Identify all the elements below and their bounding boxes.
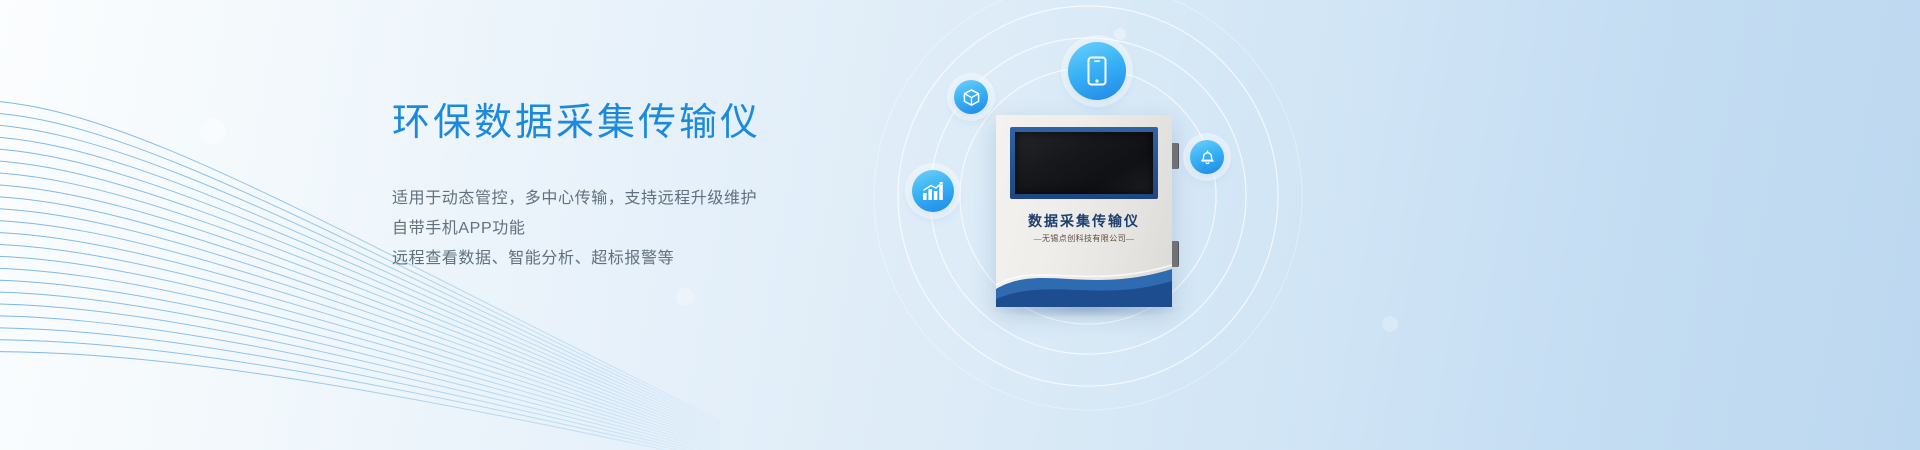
device-company-label: —无锡点创科技有限公司—	[996, 233, 1172, 244]
description-line: 适用于动态管控，多中心传输，支持远程升级维护	[392, 184, 912, 214]
product-banner: 环保数据采集传输仪 适用于动态管控，多中心传输，支持远程升级维护 自带手机APP…	[0, 0, 1920, 450]
package-box-icon[interactable]	[954, 80, 988, 114]
bokeh-dot	[1382, 316, 1398, 332]
banner-headline: 环保数据采集传输仪	[392, 96, 912, 150]
device-hinge	[1172, 143, 1179, 169]
device-nameplate: 数据采集传输仪	[996, 211, 1172, 231]
device-screen-bezel	[1010, 127, 1158, 199]
mobile-phone-icon[interactable]	[1068, 42, 1126, 100]
banner-description-list: 适用于动态管控，多中心传输，支持远程升级维护 自带手机APP功能 远程查看数据、…	[392, 184, 912, 274]
alarm-bell-icon[interactable]	[1190, 140, 1224, 174]
description-line: 自带手机APP功能	[392, 214, 912, 244]
data-collector-device: 数据采集传输仪 —无锡点创科技有限公司—	[996, 115, 1172, 307]
device-display	[1015, 132, 1153, 194]
description-line: 远程查看数据、智能分析、超标报警等	[392, 244, 912, 274]
banner-copy: 环保数据采集传输仪 适用于动态管控，多中心传输，支持远程升级维护 自带手机APP…	[392, 96, 912, 274]
product-illustration: 数据采集传输仪 —无锡点创科技有限公司—	[860, 0, 1380, 450]
device-hinge	[1172, 241, 1179, 267]
bar-chart-icon[interactable]	[912, 170, 954, 212]
device-wave-graphic	[996, 255, 1172, 307]
